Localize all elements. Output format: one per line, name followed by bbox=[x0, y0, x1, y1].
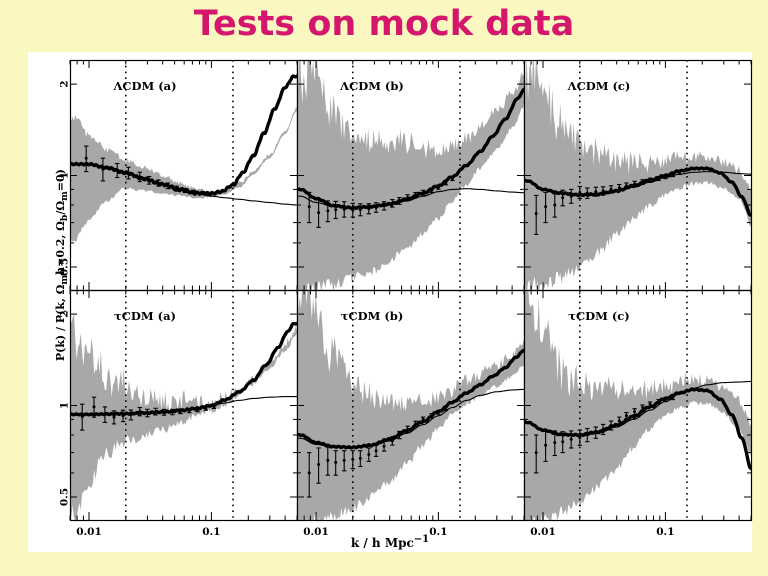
chart-panel-lcdm-a: ΛCDM (a)0.512 bbox=[70, 60, 298, 291]
page-title: Tests on mock data bbox=[0, 4, 768, 44]
svg-text:τCDM (b): τCDM (b) bbox=[341, 309, 404, 323]
svg-text:0.5: 0.5 bbox=[59, 258, 71, 276]
svg-text:0.01: 0.01 bbox=[530, 526, 556, 538]
slide: Tests on mock data P(k) / P(k, Ωmh=0.2, … bbox=[0, 0, 768, 576]
svg-text:1: 1 bbox=[59, 172, 71, 179]
svg-text:ΛCDM (c): ΛCDM (c) bbox=[567, 79, 631, 93]
svg-text:0.01: 0.01 bbox=[303, 526, 329, 538]
chart-panel-tcdm-a: τCDM (a)0.5120.010.1 bbox=[70, 290, 298, 521]
svg-text:0.5: 0.5 bbox=[59, 488, 71, 506]
svg-text:0.01: 0.01 bbox=[76, 526, 102, 538]
svg-text:0.1: 0.1 bbox=[656, 526, 674, 538]
svg-text:0.1: 0.1 bbox=[202, 526, 220, 538]
svg-text:0.1: 0.1 bbox=[429, 526, 447, 538]
x-axis-label: k / h Mpc−1 bbox=[28, 534, 752, 550]
chart-panel-tcdm-b: τCDM (b)0.010.1 bbox=[297, 290, 525, 521]
svg-text:2: 2 bbox=[59, 310, 71, 317]
svg-text:2: 2 bbox=[59, 80, 71, 87]
chart-panel-lcdm-b: ΛCDM (b) bbox=[297, 60, 525, 291]
svg-text:1: 1 bbox=[59, 402, 71, 409]
svg-text:ΛCDM (b): ΛCDM (b) bbox=[339, 79, 404, 93]
svg-text:τCDM (a): τCDM (a) bbox=[114, 309, 176, 323]
chart-panel-tcdm-c: τCDM (c)0.010.1 bbox=[524, 290, 752, 521]
svg-text:ΛCDM (a): ΛCDM (a) bbox=[112, 79, 176, 93]
figure-canvas: P(k) / P(k, Ωmh=0.2, Ωb/Ωm=0) k / h Mpc−… bbox=[28, 52, 752, 552]
svg-text:τCDM (c): τCDM (c) bbox=[568, 309, 629, 323]
chart-panel-lcdm-c: ΛCDM (c) bbox=[524, 60, 752, 291]
